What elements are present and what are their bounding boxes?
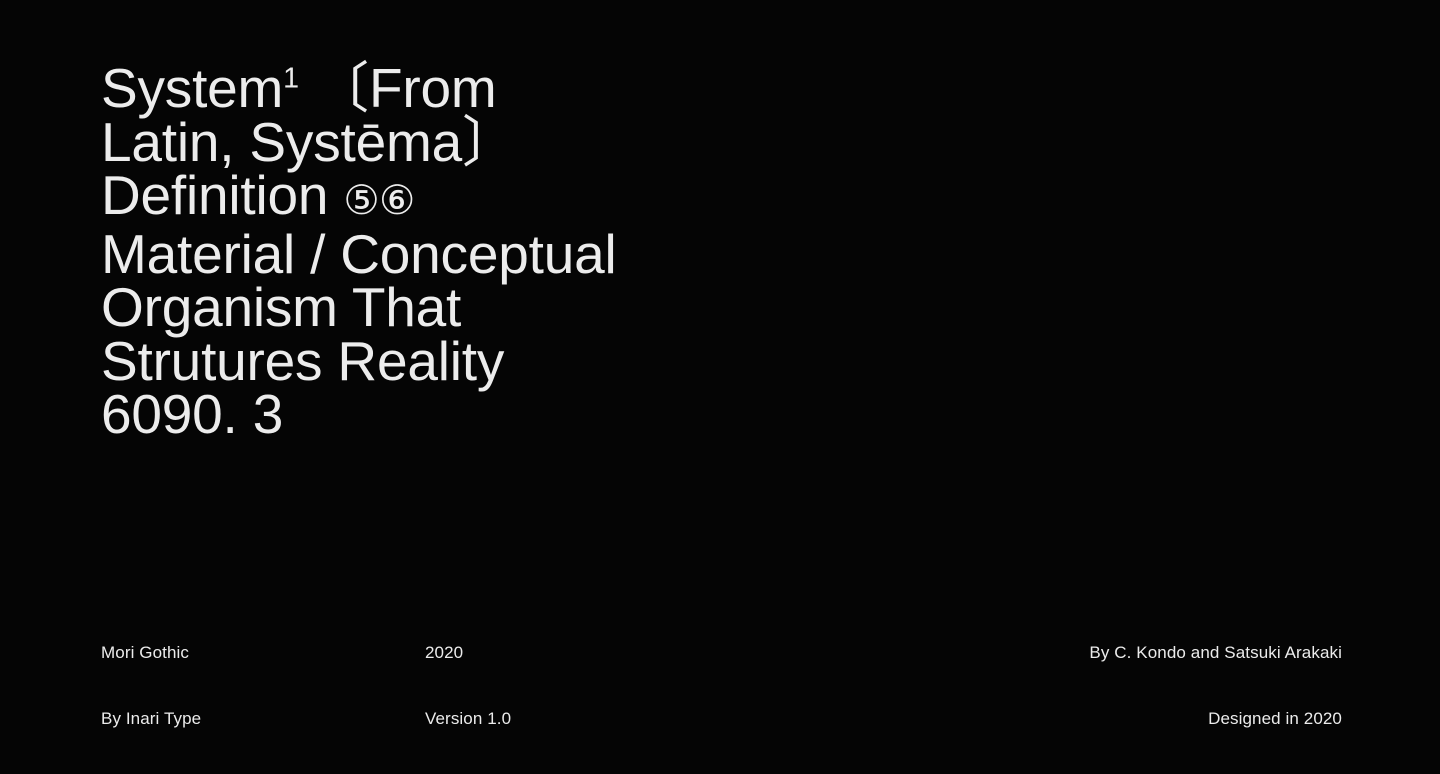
footer-foundry-name: By Inari Type — [101, 708, 201, 730]
headline-line-7: 6090. 3 — [101, 388, 1001, 442]
headline-line-1-text-before: System — [101, 57, 283, 119]
footer-typeface-credit: Mori Gothic By Inari Type — [101, 598, 201, 774]
headline-line-3: Definition ⑤⑥ — [101, 169, 1001, 228]
footer-designed-year: Designed in 2020 — [1089, 708, 1342, 730]
type-specimen-poster: System1 〔From Latin, Systēma〕 Definition… — [0, 0, 1440, 720]
headline-line-4: Material / Conceptual — [101, 228, 1001, 282]
footnote-superscript-1: 1 — [283, 63, 299, 95]
headline-line-3-text-before: Definition — [101, 164, 343, 226]
footer-year: 2020 — [425, 642, 511, 664]
footer-designer-credit: By C. Kondo and Satsuki Arakaki Designed… — [1089, 598, 1342, 774]
headline-block: System1 〔From Latin, Systēma〕 Definition… — [101, 62, 1001, 442]
headline-line-5: Organism That — [101, 281, 1001, 335]
footer-version-info: 2020 Version 1.0 — [425, 598, 511, 774]
headline-line-2: Latin, Systēma〕 — [101, 116, 1001, 170]
headline-line-6: Strutures Reality — [101, 335, 1001, 389]
headline-line-1-text-after: 〔From — [299, 57, 496, 119]
footer: Mori Gothic By Inari Type 2020 Version 1… — [0, 598, 1440, 658]
footer-typeface-name: Mori Gothic — [101, 642, 201, 664]
circled-numbers-5-6: ⑤⑥ — [343, 177, 414, 223]
footer-designers: By C. Kondo and Satsuki Arakaki — [1089, 642, 1342, 664]
footer-version: Version 1.0 — [425, 708, 511, 730]
headline-line-1: System1 〔From — [101, 62, 1001, 116]
